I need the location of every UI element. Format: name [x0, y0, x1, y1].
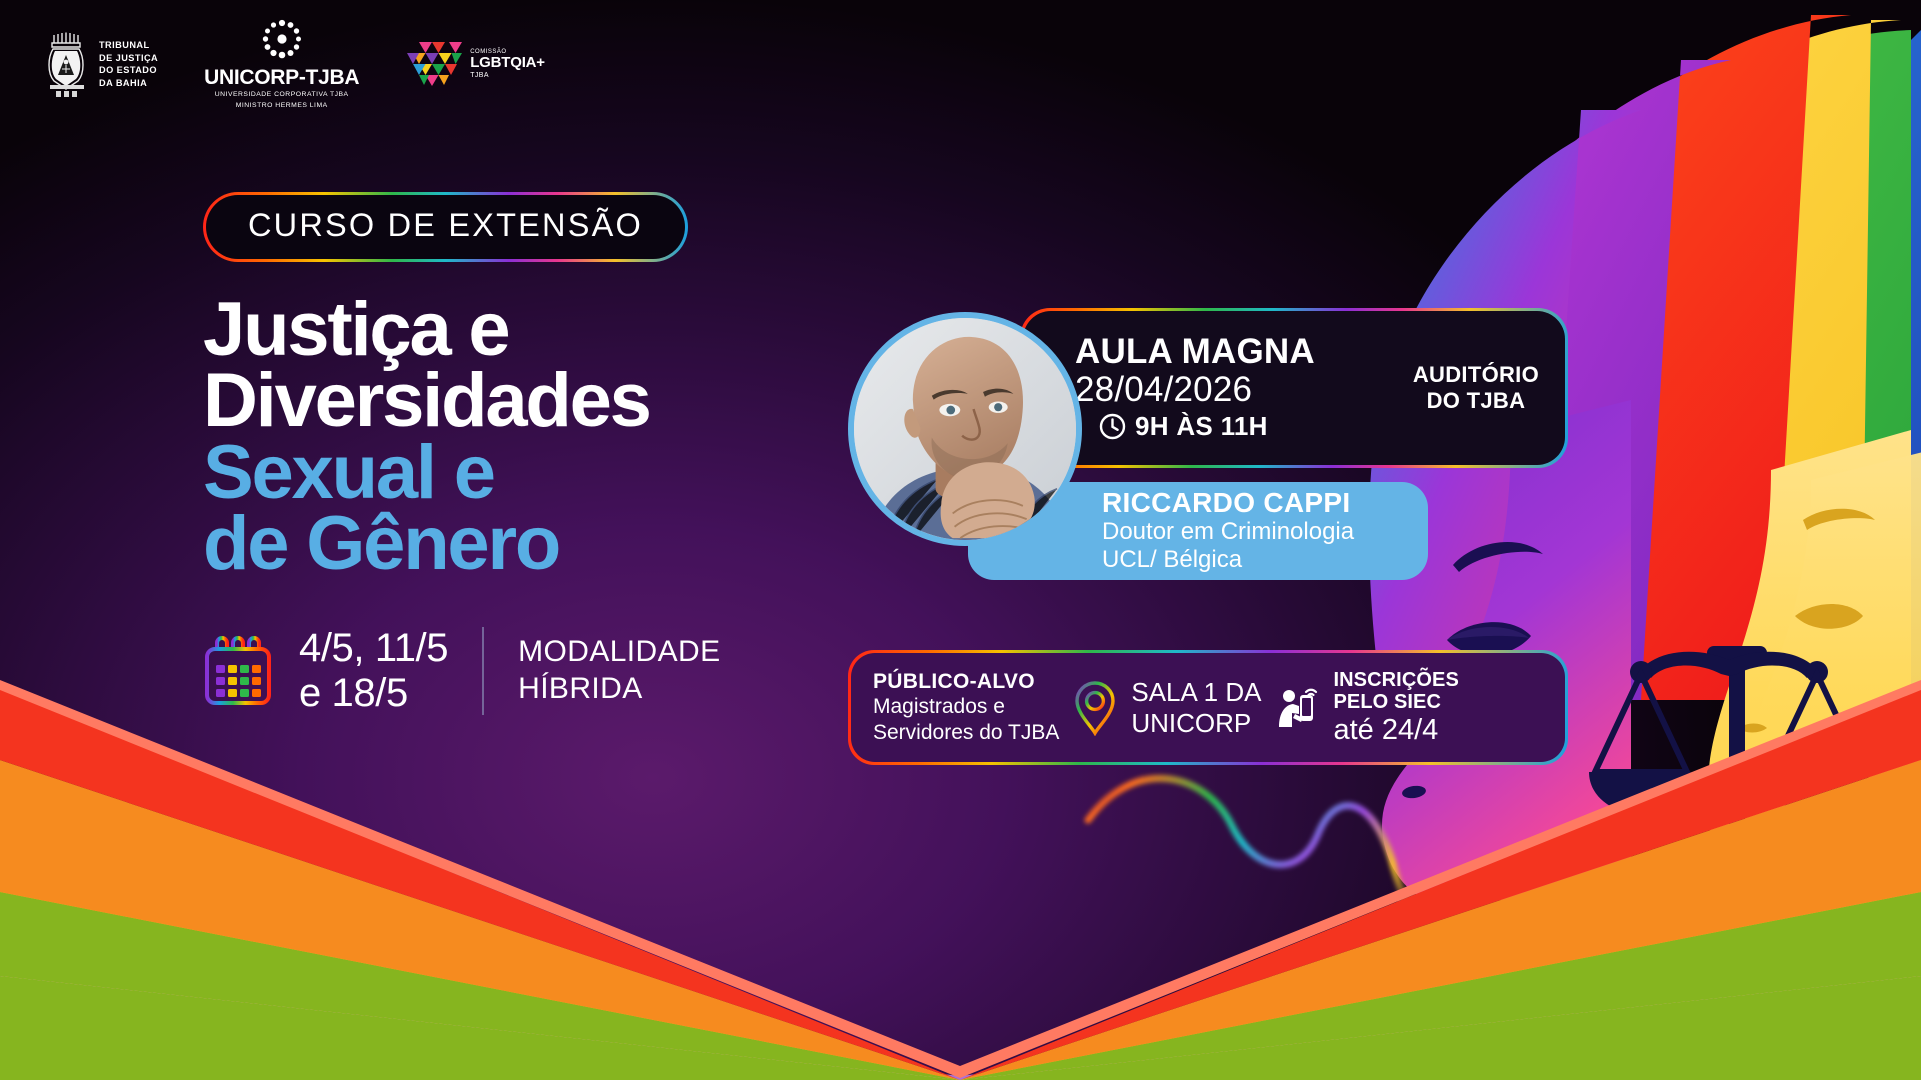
person-using-phone-icon	[1275, 687, 1319, 729]
speaker-role-2: UCL/ Bélgica	[1102, 546, 1428, 574]
logo-lgbtqia-text: COMISSÃO LGBTQIA+ TJBA	[470, 49, 545, 80]
location-block: SALA 1 DA UNICORP	[1131, 677, 1261, 737]
venue-line-1: AUDITÓRIO	[1413, 362, 1539, 388]
title-line-4: de Gênero	[203, 508, 721, 579]
signup-line-2: PELO SIEC	[1333, 691, 1458, 713]
dates-line-1: 4/5, 11/5	[299, 626, 448, 671]
venue-line-2: DO TJBA	[1413, 388, 1539, 414]
page-title: Justiça e Diversidades Sexual e de Gêner…	[203, 294, 721, 580]
course-badge-label: CURSO DE EXTENSÃO	[206, 195, 685, 259]
course-badge: CURSO DE EXTENSÃO	[203, 192, 688, 262]
location-line-1: SALA 1 DA	[1131, 677, 1261, 707]
tjba-line-3: DO ESTADO	[99, 64, 158, 76]
tjba-line-1: TRIBUNAL	[99, 39, 158, 51]
unicorp-sub-1: UNIVERSIDADE CORPORATIVA TJBA	[204, 91, 359, 100]
unicorp-dots-mark	[261, 18, 303, 60]
poster-canvas: TRIBUNAL DE JUSTIÇA DO ESTADO DA BAHIA U…	[0, 0, 1921, 1080]
course-dates: 4/5, 11/5 e 18/5	[299, 626, 448, 716]
title-line-2: Diversidades	[203, 365, 721, 436]
audience-line-2: Servidores do TJBA	[873, 720, 1059, 745]
schedule-row: 4/5, 11/5 e 18/5 MODALIDADE HÍBRIDA	[203, 626, 721, 716]
aula-magna-card: AULA MAGNA 28/04/2026 9H ÀS 11H AUDITÓRI…	[1020, 308, 1568, 468]
title-line-1: Justiça e	[203, 294, 721, 365]
divider	[482, 627, 484, 715]
logo-bar: TRIBUNAL DE JUSTIÇA DO ESTADO DA BAHIA U…	[44, 18, 545, 111]
tjba-line-4: DA BAHIA	[99, 77, 158, 89]
audience-block: PÚBLICO-ALVO Magistrados e Servidores do…	[873, 670, 1059, 744]
signup-deadline: até 24/4	[1333, 715, 1458, 747]
tjba-line-2: DE JUSTIÇA	[99, 52, 158, 64]
aula-magna-venue: AUDITÓRIO DO TJBA	[1413, 362, 1539, 415]
avatar	[848, 312, 1082, 546]
unicorp-name: UNICORP-TJBA	[204, 67, 359, 88]
modality-line-2: HÍBRIDA	[518, 671, 720, 708]
lgbtqia-line-2: LGBTQIA+	[470, 55, 545, 72]
aula-magna-time: 9H ÀS 11H	[1135, 411, 1268, 442]
audience-line-1: Magistrados e	[873, 694, 1059, 719]
signup-block: INSCRIÇÕES PELO SIEC até 24/4	[1333, 669, 1458, 747]
logo-tjba: TRIBUNAL DE JUSTIÇA DO ESTADO DA BAHIA	[44, 29, 158, 99]
lgbtqia-line-3: TJBA	[470, 72, 545, 80]
rainbow-calendar-icon	[203, 635, 273, 707]
bahia-coat-of-arms	[44, 29, 90, 99]
speaker-name: RICCARDO CAPPI	[1102, 488, 1428, 518]
unicorp-sub-2: MINISTRO HERMES LIMA	[204, 102, 359, 111]
location-line-2: UNICORP	[1131, 708, 1261, 738]
modality-line-1: MODALIDADE	[518, 634, 720, 671]
logo-unicorp: UNICORP-TJBA UNIVERSIDADE CORPORATIVA TJ…	[204, 18, 359, 111]
aula-magna-date: 28/04/2026	[1075, 370, 1315, 409]
clock-icon	[1099, 413, 1126, 440]
headline-block: CURSO DE EXTENSÃO Justiça e Diversidades…	[203, 192, 721, 716]
audience-title: PÚBLICO-ALVO	[873, 670, 1059, 694]
rainbow-map-pin-icon	[1073, 680, 1117, 736]
speaker-role-1: Doutor em Criminologia	[1102, 518, 1428, 546]
signup-line-1: INSCRIÇÕES	[1333, 669, 1458, 691]
dates-line-2: e 18/5	[299, 671, 448, 716]
logo-lgbtqia: COMISSÃO LGBTQIA+ TJBA	[405, 38, 545, 90]
riccardo-cappi-portrait	[854, 318, 1076, 540]
aula-magna-time-row: 9H ÀS 11H	[1075, 411, 1315, 442]
rainbow-cube-heart-mark	[405, 38, 463, 90]
course-modality: MODALIDADE HÍBRIDA	[518, 634, 720, 707]
aula-magna-title: AULA MAGNA	[1075, 334, 1315, 370]
logo-tjba-text: TRIBUNAL DE JUSTIÇA DO ESTADO DA BAHIA	[99, 39, 158, 89]
title-line-3: Sexual e	[203, 437, 721, 508]
footer-info-card: PÚBLICO-ALVO Magistrados e Servidores do…	[848, 650, 1568, 765]
